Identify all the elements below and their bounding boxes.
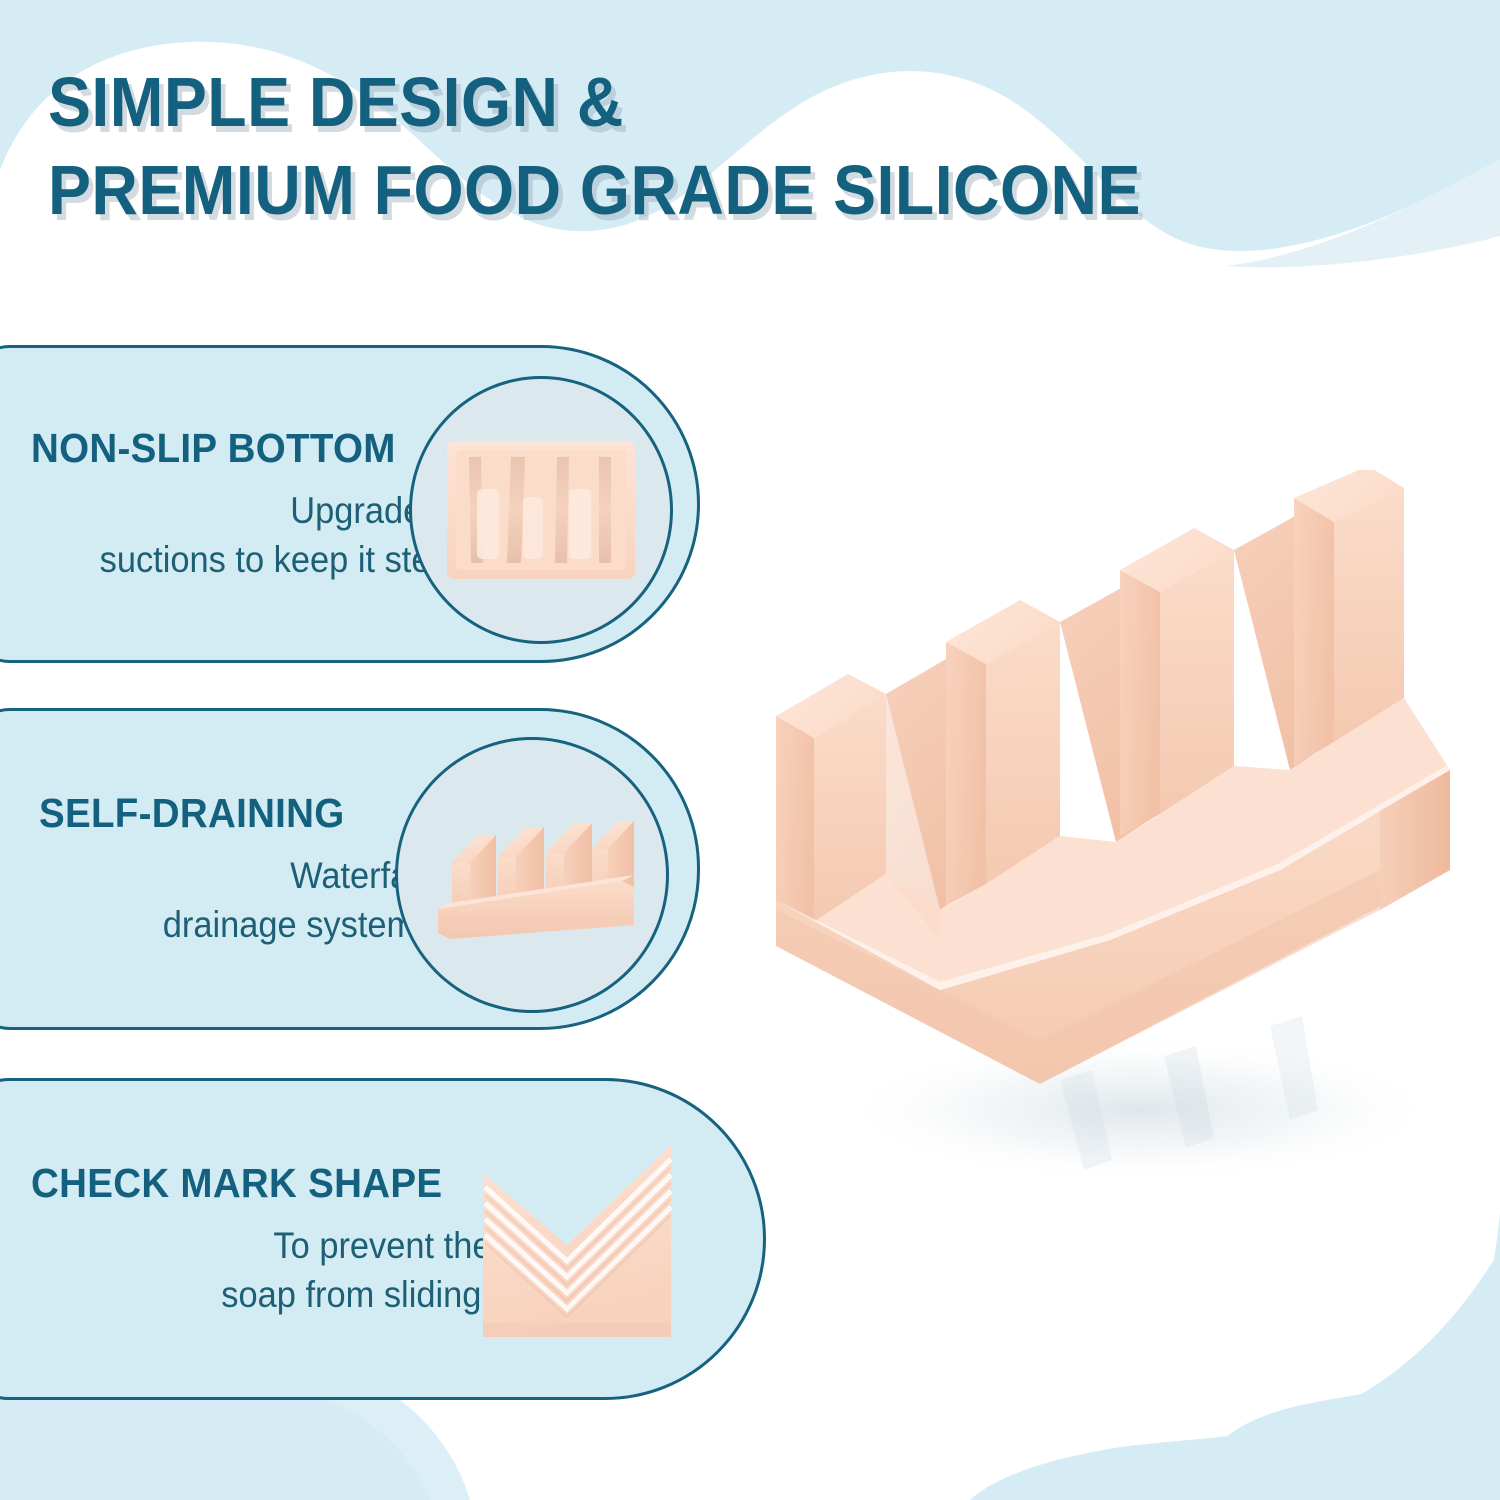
feature-card-text: CHECK MARK SHAPE To prevent the soap fro… bbox=[31, 1081, 501, 1397]
soap-dish-side-profile-v-shape-icon bbox=[475, 1137, 675, 1345]
feature-title: SELF-DRAINING bbox=[39, 789, 345, 837]
feature-card-non-slip-bottom[interactable]: NON-SLIP BOTTOM Upgrade with suctions to… bbox=[0, 345, 700, 663]
feature-title: NON-SLIP BOTTOM bbox=[31, 424, 396, 472]
feature-card-check-mark-shape[interactable]: CHECK MARK SHAPE To prevent the soap fro… bbox=[0, 1078, 766, 1400]
feature-image-frame bbox=[395, 737, 669, 1013]
feature-description-line-1: To prevent the bbox=[273, 1221, 491, 1270]
feature-description-line-2: soap from sliding. bbox=[221, 1270, 491, 1319]
product-image-silicone-soap-dish bbox=[740, 470, 1500, 1230]
soap-dish-front-ridges-view-icon bbox=[426, 805, 638, 945]
title-line-1: SIMPLE DESIGN & bbox=[48, 58, 1336, 146]
feature-description-line-2: drainage system. bbox=[163, 900, 425, 949]
header: SIMPLE DESIGN & PREMIUM FOOD GRADE SILIC… bbox=[0, 0, 1500, 300]
feature-card-self-draining[interactable]: SELF-DRAINING Waterfall drainage system. bbox=[0, 708, 700, 1030]
feature-title: CHECK MARK SHAPE bbox=[31, 1159, 442, 1207]
feature-card-text: SELF-DRAINING Waterfall drainage system. bbox=[31, 711, 431, 1027]
title-line-2: PREMIUM FOOD GRADE SILICONE bbox=[48, 146, 1336, 234]
soap-dish-bottom-view-icon bbox=[447, 441, 635, 579]
feature-image-frame bbox=[409, 376, 673, 644]
page-title: SIMPLE DESIGN & PREMIUM FOOD GRADE SILIC… bbox=[48, 58, 1448, 234]
infographic-canvas: SIMPLE DESIGN & PREMIUM FOOD GRADE SILIC… bbox=[0, 0, 1500, 1500]
